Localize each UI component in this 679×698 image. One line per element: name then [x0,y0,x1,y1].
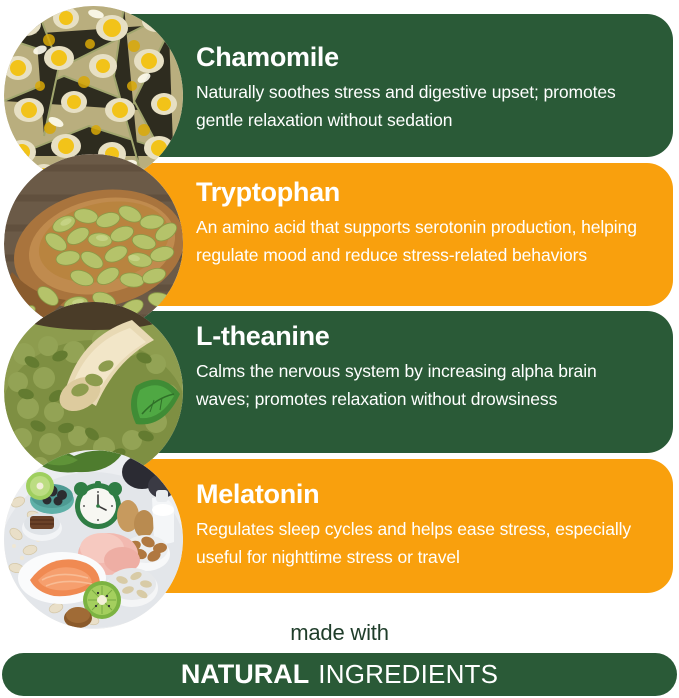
natural-ingredients-banner: NATURAL INGREDIENTS [2,653,677,696]
ingredient-card-chamomile: Chamomile Naturally soothes stress and d… [100,14,673,157]
ingredient-title: Chamomile [196,41,647,73]
ingredient-title: Tryptophan [196,176,647,208]
card-text-block: Tryptophan An amino acid that supports s… [196,176,647,269]
ingredient-description: An amino acid that supports serotonin pr… [196,213,647,269]
ingredient-description: Calms the nervous system by increasing a… [196,357,647,413]
ingredient-description: Regulates sleep cycles and helps ease st… [196,515,647,571]
ingredient-card-stack: Chamomile Naturally soothes stress and d… [0,0,679,600]
ingredient-card-l-theanine: L-theanine Calms the nervous system by i… [100,311,673,453]
melatonin-foods-clock-photo [4,450,183,629]
ingredient-card-tryptophan: Tryptophan An amino acid that supports s… [100,163,673,306]
card-text-block: L-theanine Calms the nervous system by i… [196,320,647,413]
banner-word-ingredients: INGREDIENTS [318,659,498,690]
ingredient-title: Melatonin [196,478,647,510]
ingredient-card-melatonin: Melatonin Regulates sleep cycles and hel… [100,459,673,593]
ingredient-title: L-theanine [196,320,647,352]
card-text-block: Melatonin Regulates sleep cycles and hel… [196,478,647,571]
card-text-block: Chamomile Naturally soothes stress and d… [196,41,647,134]
ingredient-description: Naturally soothes stress and digestive u… [196,78,647,134]
banner-word-natural: NATURAL [181,659,309,690]
natural-ingredients-infographic: Chamomile Naturally soothes stress and d… [0,0,679,698]
